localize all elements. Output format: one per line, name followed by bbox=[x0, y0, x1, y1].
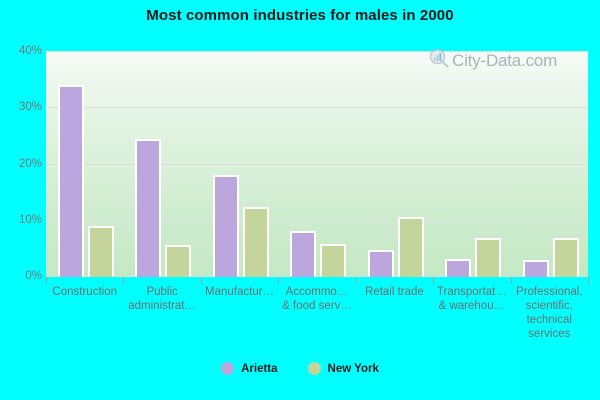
y-tick-label: 0% bbox=[2, 270, 42, 282]
x-tick-label: Retail trade bbox=[356, 285, 433, 299]
legend-swatch-arietta bbox=[221, 362, 234, 375]
x-tick bbox=[201, 277, 202, 284]
x-tick bbox=[511, 277, 512, 284]
page-title: Most common industries for males in 2000 bbox=[0, 7, 600, 24]
bar-new-york[interactable] bbox=[320, 244, 346, 277]
bar-arietta[interactable] bbox=[523, 260, 549, 278]
x-tick bbox=[278, 277, 279, 284]
bar-group bbox=[433, 51, 510, 277]
y-axis: 40% 30% 20% 10% 0% bbox=[0, 51, 42, 277]
legend-label-new-york: New York bbox=[328, 363, 379, 375]
x-tick bbox=[433, 277, 434, 284]
bars-layer bbox=[46, 51, 588, 277]
bar-arietta[interactable] bbox=[213, 175, 239, 277]
bar-new-york[interactable] bbox=[475, 238, 501, 277]
legend-item-arietta[interactable]: Arietta bbox=[221, 362, 277, 375]
legend-swatch-new-york bbox=[308, 362, 321, 375]
x-tick-label: Accommo… & food serv… bbox=[278, 285, 355, 313]
bar-new-york[interactable] bbox=[243, 207, 269, 277]
bar-group bbox=[123, 51, 200, 277]
bar-arietta[interactable] bbox=[290, 231, 316, 277]
legend-label-arietta: Arietta bbox=[241, 363, 277, 375]
bar-arietta[interactable] bbox=[135, 139, 161, 277]
legend: Arietta New York bbox=[0, 362, 600, 375]
bar-group bbox=[46, 51, 123, 277]
y-tick-label: 10% bbox=[2, 214, 42, 226]
bar-new-york[interactable] bbox=[165, 245, 191, 277]
bar-arietta[interactable] bbox=[368, 250, 394, 277]
bar-arietta[interactable] bbox=[58, 85, 84, 277]
x-tick-label: Professional, scientific, technical serv… bbox=[511, 285, 588, 341]
y-tick-label: 30% bbox=[2, 101, 42, 113]
x-tick bbox=[356, 277, 357, 284]
bar-arietta[interactable] bbox=[445, 259, 471, 277]
x-tick-label: Manufactur… bbox=[201, 285, 278, 299]
bar-new-york[interactable] bbox=[88, 226, 114, 277]
x-tick-label: Transportat… & warehou… bbox=[433, 285, 510, 313]
x-tick bbox=[46, 277, 47, 284]
bar-new-york[interactable] bbox=[553, 238, 579, 277]
bar-group bbox=[356, 51, 433, 277]
x-tick bbox=[588, 277, 589, 284]
y-tick-label: 20% bbox=[2, 158, 42, 170]
x-tick-label: Construction bbox=[46, 285, 123, 299]
y-tick-label: 40% bbox=[2, 45, 42, 57]
x-tick-label: Public administrat… bbox=[123, 285, 200, 313]
legend-item-new-york[interactable]: New York bbox=[308, 362, 379, 375]
bar-group bbox=[201, 51, 278, 277]
bar-new-york[interactable] bbox=[398, 217, 424, 277]
bar-group bbox=[278, 51, 355, 277]
x-tick bbox=[123, 277, 124, 284]
bar-group bbox=[511, 51, 588, 277]
